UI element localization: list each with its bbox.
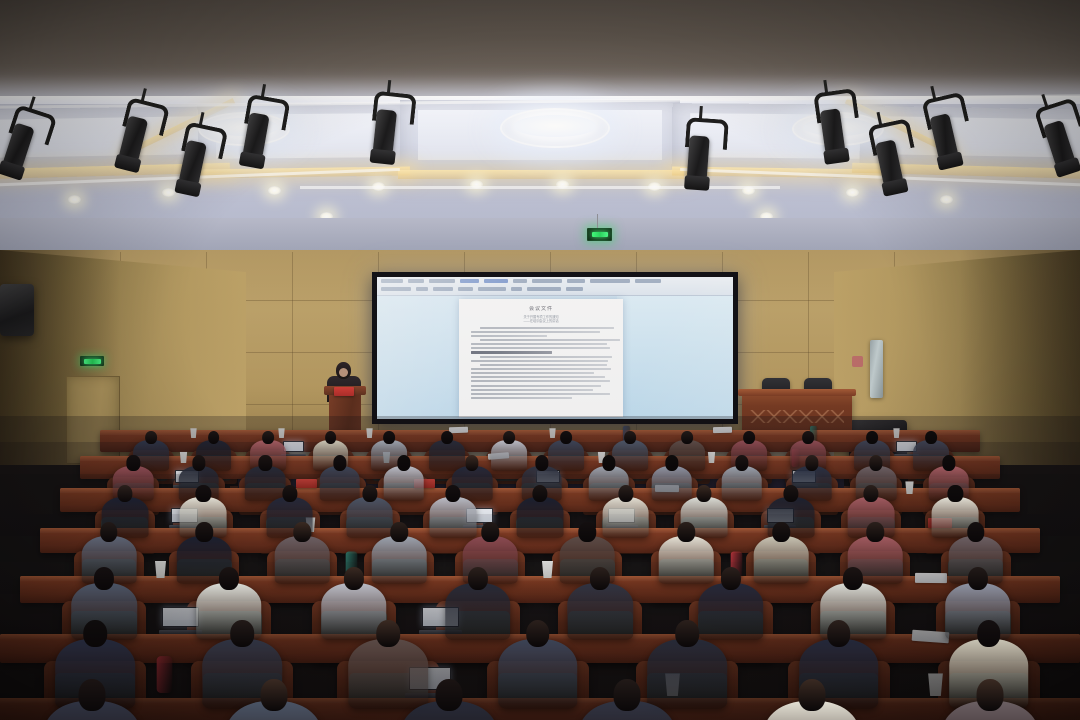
- person-head: [977, 620, 1001, 647]
- person-head: [968, 567, 988, 590]
- document-subtitle-2: ——在培训会议上的讲话: [471, 319, 611, 323]
- person-torso: [568, 583, 634, 640]
- person-head: [696, 485, 711, 503]
- person-head: [436, 679, 463, 710]
- person-head: [282, 485, 297, 503]
- wall-notice-plate: [852, 356, 863, 367]
- person-head: [260, 679, 287, 710]
- person-head: [441, 431, 453, 445]
- ceiling-downlight-3: [268, 186, 281, 195]
- person-torso: [647, 639, 727, 709]
- person-head: [94, 567, 114, 590]
- head-table: [742, 394, 852, 434]
- person-head: [743, 431, 755, 445]
- person-head: [720, 567, 740, 590]
- ceiling-lower-band: [0, 218, 1080, 250]
- projection-screen: 会议文件 关于开展专项工作的通知 ——在培训会议上的讲话: [372, 272, 738, 424]
- person-torso: [429, 497, 476, 537]
- document-text-line: [471, 380, 610, 382]
- projection-screen-content: 会议文件 关于开展专项工作的通知 ——在培训会议上的讲话: [377, 277, 733, 419]
- ceiling-downlight-1: [68, 195, 81, 204]
- head-table-trim: [750, 410, 844, 423]
- person-head: [325, 431, 337, 445]
- document-text-line: [471, 385, 601, 387]
- podium-name-placard: [334, 387, 354, 396]
- person-torso: [275, 536, 330, 584]
- presenter-face: [339, 368, 348, 377]
- person-head: [843, 567, 863, 590]
- person-head: [100, 522, 117, 542]
- person-head: [590, 567, 610, 590]
- person-head: [526, 620, 550, 647]
- person-head: [866, 431, 878, 445]
- document-text-line: [480, 327, 614, 329]
- person-torso: [498, 639, 578, 709]
- person-head: [864, 485, 879, 503]
- document-text-line: [471, 335, 547, 337]
- hanging-exit-sign: [587, 228, 612, 241]
- document-body: [471, 327, 611, 399]
- audience-seating: [0, 430, 1080, 720]
- ceiling-medallion-2: [500, 108, 610, 148]
- person-head: [967, 522, 984, 542]
- document-text-line: [480, 356, 612, 358]
- ceiling-downlight-9: [846, 188, 859, 197]
- document-text-line: [480, 364, 607, 366]
- person-torso: [754, 536, 809, 584]
- person-torso: [349, 639, 429, 709]
- person-head: [377, 620, 401, 647]
- person-head: [117, 485, 132, 503]
- person-head: [783, 485, 798, 503]
- wall-speaker-left: [0, 284, 34, 336]
- document-text-line: [471, 397, 572, 399]
- person-torso: [445, 583, 511, 640]
- person-head: [678, 522, 695, 542]
- person-torso: [491, 440, 527, 471]
- person-head: [196, 485, 211, 503]
- document-text-line: [471, 351, 552, 353]
- person-head: [481, 522, 498, 542]
- toolbar-row-tools: [381, 287, 729, 291]
- person-head: [532, 485, 547, 503]
- person-head: [579, 522, 596, 542]
- person-torso: [659, 536, 714, 584]
- person-head: [83, 620, 107, 647]
- ceiling: [0, 0, 1080, 250]
- stage-light-lens: [370, 149, 396, 166]
- document-text-line: [471, 368, 611, 370]
- person-head: [926, 431, 938, 445]
- person-head: [798, 679, 825, 710]
- person-head: [445, 485, 460, 503]
- person-head: [383, 431, 395, 445]
- document-page: 会议文件 关于开展专项工作的通知 ——在培训会议上的讲话: [459, 299, 623, 417]
- person-head: [827, 620, 851, 647]
- document-text-line: [471, 393, 610, 395]
- person-head: [219, 567, 239, 590]
- person-torso: [651, 466, 692, 501]
- document-text-line: [471, 389, 593, 391]
- document-text-line: [471, 331, 600, 333]
- person-head: [391, 522, 408, 542]
- person-torso: [245, 466, 286, 501]
- thermos-bottle: [157, 656, 173, 693]
- person-head: [362, 485, 377, 503]
- person-head: [560, 431, 572, 445]
- wall-light-fixture: [870, 340, 883, 398]
- person-head: [231, 620, 255, 647]
- person-torso: [319, 466, 360, 501]
- document-text-line: [471, 343, 607, 345]
- person-head: [468, 567, 488, 590]
- document-app-toolbar: [377, 277, 733, 296]
- person-head: [344, 567, 364, 590]
- screen-right-fill: [617, 295, 733, 419]
- person-head: [208, 431, 220, 445]
- person-torso: [346, 497, 393, 537]
- conference-hall-photo: 会议文件 关于开展专项工作的通知 ——在培训会议上的讲话: [0, 0, 1080, 720]
- person-head: [79, 679, 106, 710]
- person-torso: [372, 536, 427, 584]
- exit-sign-box: [587, 228, 612, 241]
- person-torso: [548, 440, 584, 471]
- person-torso: [698, 583, 764, 640]
- document-title: 会议文件: [471, 306, 611, 313]
- document-text-line: [480, 339, 620, 341]
- document-text-line: [471, 347, 610, 349]
- document-text-line: [471, 372, 594, 374]
- person-head: [624, 431, 636, 445]
- stage-light-lens: [684, 175, 710, 191]
- person-head: [613, 679, 640, 710]
- ceiling-downlight-2: [162, 188, 175, 197]
- person-head: [948, 485, 963, 503]
- stage-light-body: [687, 135, 710, 180]
- person-head: [681, 431, 693, 445]
- document-text-line: [471, 376, 605, 378]
- person-torso: [516, 497, 563, 537]
- person-head: [503, 431, 515, 445]
- person-torso: [429, 440, 465, 471]
- ceiling-cove-light-3: [398, 170, 684, 179]
- person-head: [867, 522, 884, 542]
- person-head: [772, 522, 789, 542]
- person-head: [196, 522, 213, 542]
- ceiling-soffit: [0, 0, 1080, 98]
- document-text-line: [471, 360, 608, 362]
- head-table-top: [738, 389, 856, 396]
- exit-sign-wire: [597, 214, 598, 228]
- person-head: [294, 522, 311, 542]
- toolbar-row-menus: [381, 279, 729, 283]
- ceiling-downlight-10: [940, 195, 953, 204]
- person-head: [262, 431, 274, 445]
- person-head: [618, 485, 633, 503]
- person-torso: [721, 466, 762, 501]
- person-head: [675, 620, 699, 647]
- paper-cup: [926, 673, 944, 696]
- person-head: [802, 431, 814, 445]
- person-head: [976, 679, 1003, 710]
- person-torso: [602, 497, 649, 537]
- person-torso: [383, 466, 424, 501]
- person-head: [145, 431, 157, 445]
- wall-seam-vertical: [292, 252, 293, 458]
- screen-left-fill: [377, 295, 459, 419]
